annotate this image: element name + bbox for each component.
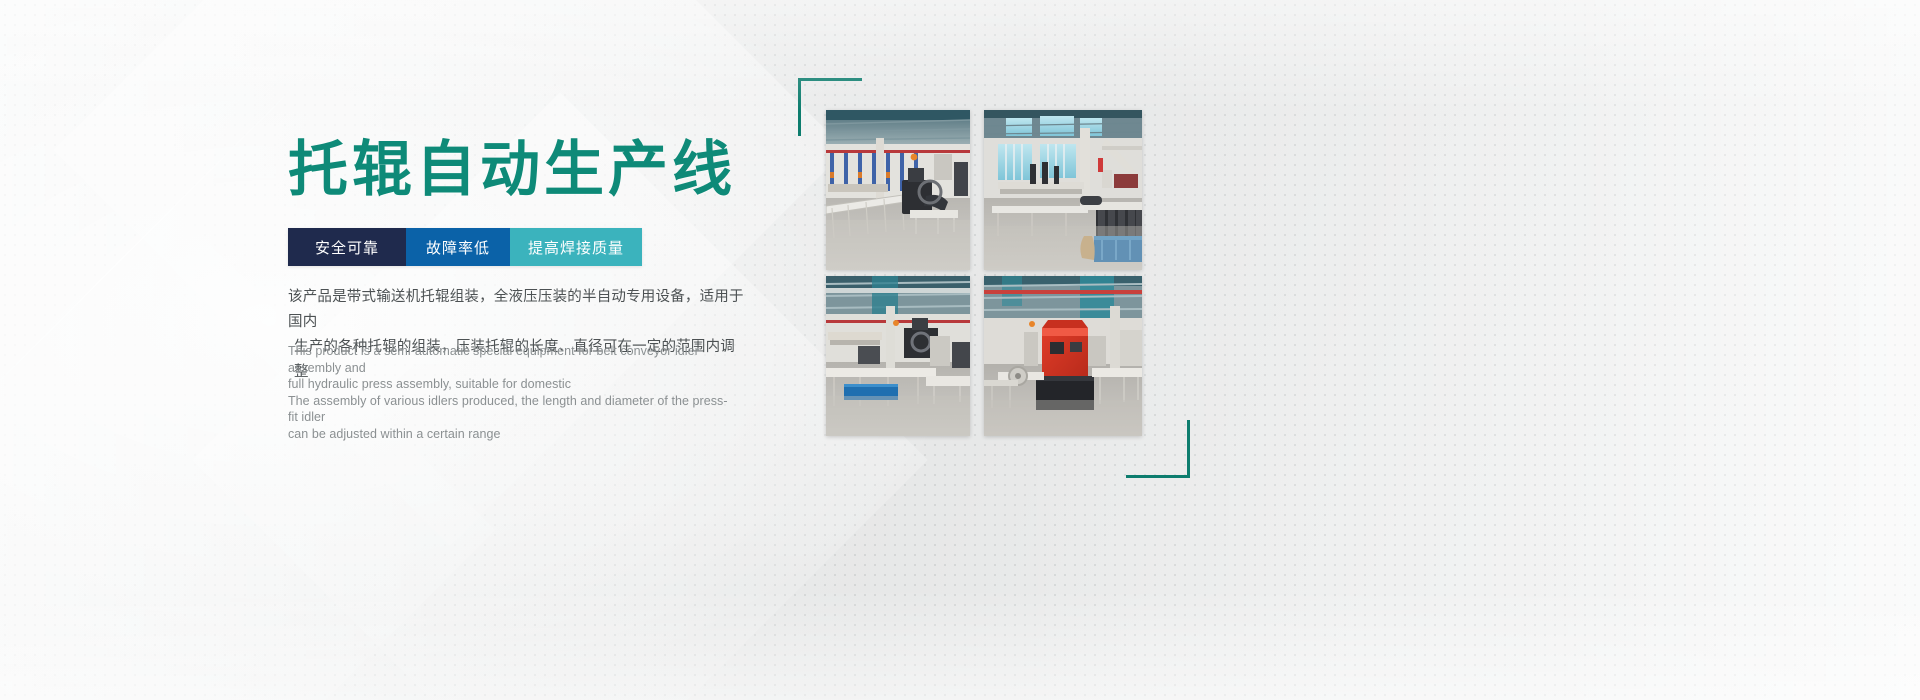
photo-workshop-idler-stacks[interactable]	[984, 110, 1142, 270]
description-english-line-3: The assembly of various idlers produced,…	[288, 393, 728, 426]
feature-badge-group: 安全可靠 故障率低 提高焊接质量	[288, 228, 642, 266]
photo-grid	[826, 110, 1152, 446]
photo-assembly-machines[interactable]	[826, 276, 970, 436]
feature-badge-safe-reliable[interactable]: 安全可靠	[288, 228, 406, 266]
description-chinese-line-1: 该产品是带式输送机托辊组装，全液压压装的半自动专用设备，适用于国内	[288, 285, 748, 335]
photo-red-press-machine[interactable]	[984, 276, 1142, 436]
photo-roller-conveyor-line[interactable]	[826, 110, 970, 270]
description-english-line-1: This product is a semi-automatic special…	[288, 343, 728, 376]
description-english: This product is a semi-automatic special…	[288, 343, 728, 442]
banner-title: 托辊自动生产线	[288, 138, 736, 202]
feature-badge-improved-weld-quality[interactable]: 提高焊接质量	[510, 228, 642, 266]
photo-gallery	[798, 78, 1190, 478]
description-english-line-4: can be adjusted within a certain range	[288, 426, 728, 443]
description-english-line-2: full hydraulic press assembly, suitable …	[288, 376, 728, 393]
decorative-diagonal-line	[0, 55, 326, 452]
feature-badge-low-failure-rate[interactable]: 故障率低	[406, 228, 510, 266]
product-banner: 托辊自动生产线 安全可靠 故障率低 提高焊接质量 该产品是带式输送机托辊组装，全…	[0, 0, 1920, 700]
banner-content: 托辊自动生产线 安全可靠 故障率低 提高焊接质量 该产品是带式输送机托辊组装，全…	[288, 0, 808, 700]
